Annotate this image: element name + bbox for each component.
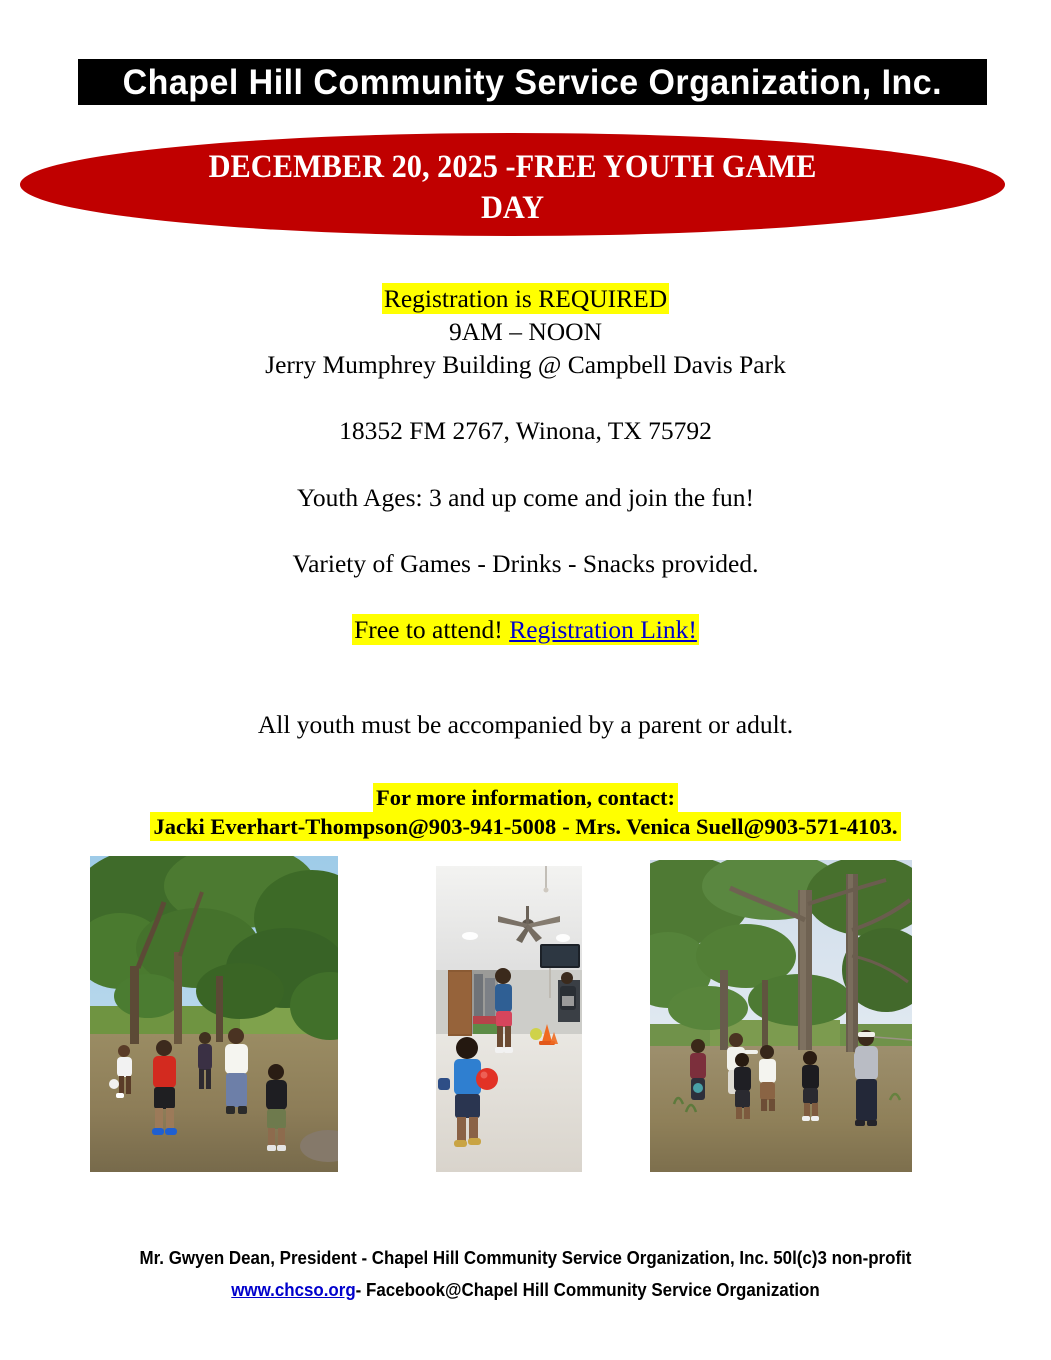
- event-provided: Variety of Games - Drinks - Snacks provi…: [0, 547, 1051, 580]
- park-group-activity-image: [90, 856, 338, 1172]
- event-ages: Youth Ages: 3 and up come and join the f…: [0, 481, 1051, 514]
- indoor-gym-ball-photo: [436, 866, 582, 1172]
- guardian-note-line: All youth must be accompanied by a paren…: [0, 708, 1051, 741]
- park-wooded-group-photo: [650, 860, 912, 1172]
- free-to-attend-text: Free to attend!: [354, 615, 503, 644]
- footer-facebook-text: - Facebook@Chapel Hill Community Service…: [356, 1280, 820, 1300]
- event-banner-line-1: DECEMBER 20, 2025 -FREE YOUTH GAME: [142, 147, 883, 188]
- event-time: 9AM – NOON: [0, 315, 1051, 348]
- registration-link[interactable]: Registration Link!: [509, 615, 697, 644]
- free-to-attend-line: Free to attend! Registration Link!: [0, 613, 1051, 646]
- registration-required-text: Registration is REQUIRED: [382, 283, 669, 314]
- spacer-2: [0, 448, 1051, 481]
- contact-heading-text: For more information, contact:: [373, 783, 678, 812]
- free-to-attend-highlight: Free to attend! Registration Link!: [352, 614, 699, 645]
- website-link[interactable]: www.chcso.org: [231, 1280, 355, 1300]
- contact-person-1: Jacki Everhart-Thompson@903-941-5008: [150, 812, 559, 841]
- park-group-activity-photo: [90, 856, 338, 1172]
- contact-person-2: - Mrs. Venica Suell@903-571-4103.: [559, 812, 900, 841]
- event-banner-oval: DECEMBER 20, 2025 -FREE YOUTH GAME DAY: [20, 133, 1005, 236]
- footer-contact-line: www.chcso.org- Facebook@Chapel Hill Comm…: [32, 1275, 1020, 1307]
- event-venue: Jerry Mumphrey Building @ Campbell Davis…: [0, 348, 1051, 381]
- organization-header-bar: Chapel Hill Community Service Organizati…: [78, 59, 987, 105]
- contact-heading-line: For more information, contact:: [0, 784, 1051, 813]
- event-address: 18352 FM 2767, Winona, TX 75792: [0, 414, 1051, 447]
- organization-name: Chapel Hill Community Service Organizati…: [123, 65, 942, 100]
- guardian-note-text: All youth must be accompanied by a paren…: [258, 710, 793, 739]
- flyer-page: Chapel Hill Community Service Organizati…: [0, 0, 1051, 1360]
- spacer-3: [0, 514, 1051, 547]
- contact-people-line: Jacki Everhart-Thompson@903-941-5008- Mr…: [0, 813, 1051, 842]
- footer-block: Mr. Gwyen Dean, President - Chapel Hill …: [0, 1243, 1051, 1306]
- event-banner-text: DECEMBER 20, 2025 -FREE YOUTH GAME DAY: [142, 147, 883, 228]
- contact-information-block: For more information, contact: Jacki Eve…: [0, 784, 1051, 842]
- footer-president-line: Mr. Gwyen Dean, President - Chapel Hill …: [32, 1243, 1020, 1275]
- spacer-4: [0, 580, 1051, 613]
- event-details-block: Registration is REQUIRED 9AM – NOON Jerr…: [0, 282, 1051, 646]
- spacer-1: [0, 381, 1051, 414]
- indoor-gym-ball-image: [436, 866, 582, 1172]
- registration-required-line: Registration is REQUIRED: [0, 282, 1051, 315]
- event-banner-line-2: DAY: [142, 188, 883, 229]
- park-wooded-group-image: [650, 860, 912, 1172]
